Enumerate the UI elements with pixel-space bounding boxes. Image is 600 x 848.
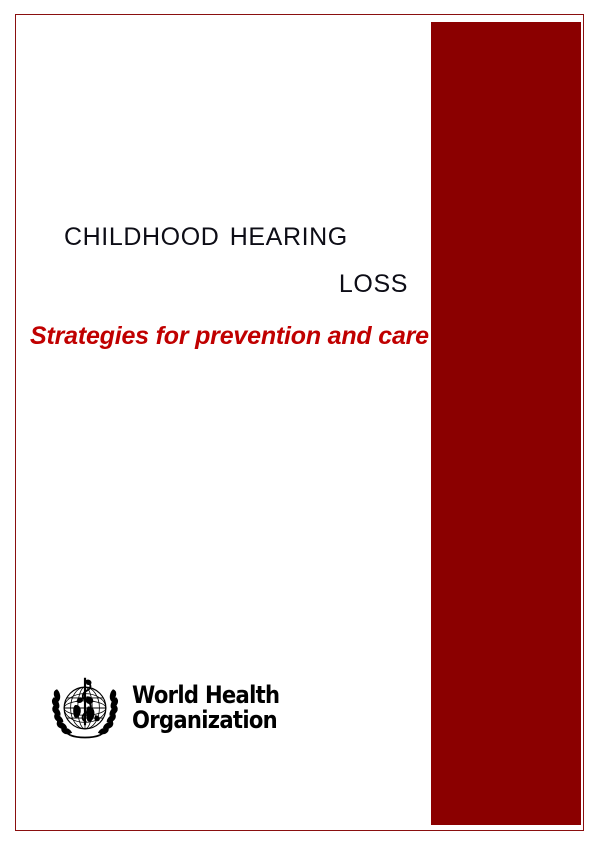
publisher-name-line-1: World Health (132, 683, 279, 708)
who-logo-lockup: World Health Organization (48, 672, 299, 744)
page-title-line-2: Loss (40, 257, 408, 304)
who-wordmark: World Health Organization (132, 683, 279, 733)
red-accent-band (431, 22, 581, 825)
page-title-line-1: Childhood Hearing (40, 210, 408, 257)
who-emblem-icon (48, 672, 122, 744)
publisher-name-line-2: Organization (132, 708, 279, 733)
cover-title-block: Childhood Hearing Loss (40, 210, 408, 304)
page-subtitle: Strategies for prevention and care (30, 322, 408, 351)
